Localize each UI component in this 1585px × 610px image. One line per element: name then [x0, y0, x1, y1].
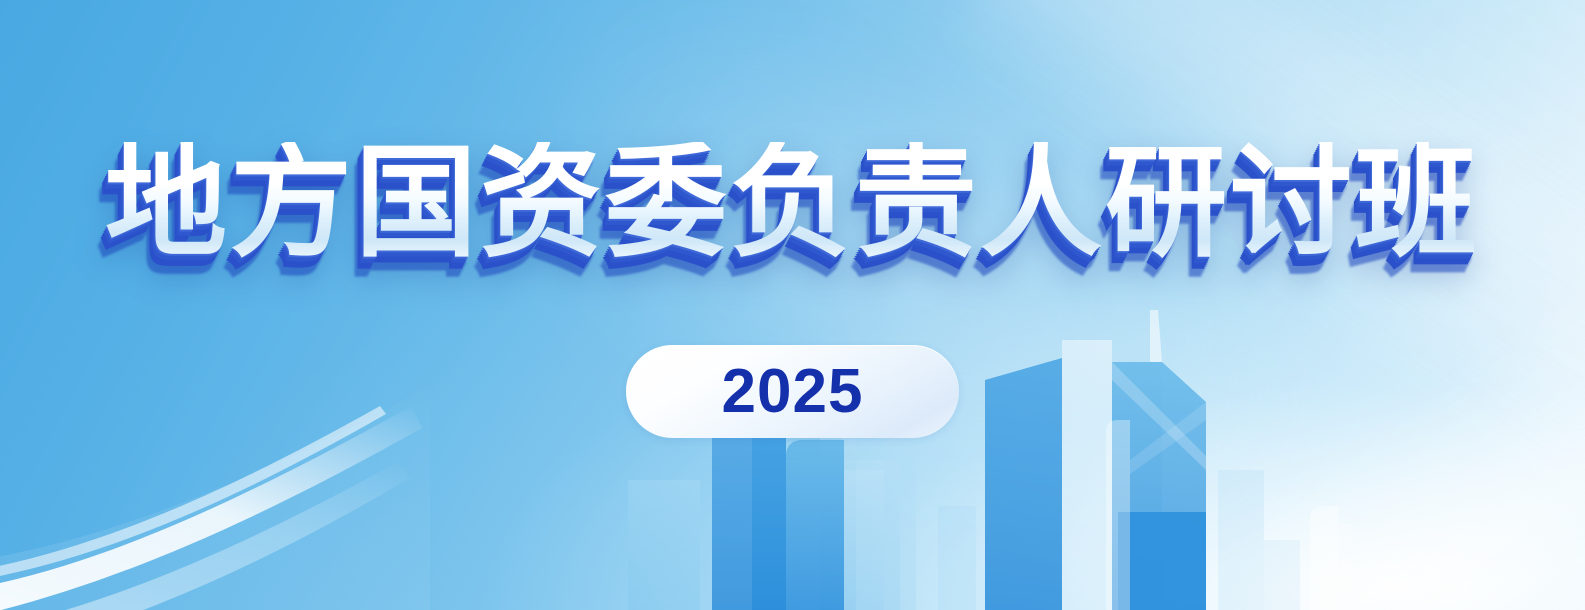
page-title: 地方国资委负责人研讨班	[105, 142, 1480, 264]
event-banner: 地方国资委负责人研讨班 2025	[0, 0, 1585, 610]
light-glow-center	[405, 0, 1416, 610]
year-badge: 2025	[626, 345, 959, 438]
year-badge-row: 2025	[0, 345, 1585, 438]
banner-title-row: 地方国资委负责人研讨班	[0, 142, 1585, 264]
year-badge-label: 2025	[722, 361, 864, 423]
light-streak-top-right-icon	[690, 0, 1585, 595]
